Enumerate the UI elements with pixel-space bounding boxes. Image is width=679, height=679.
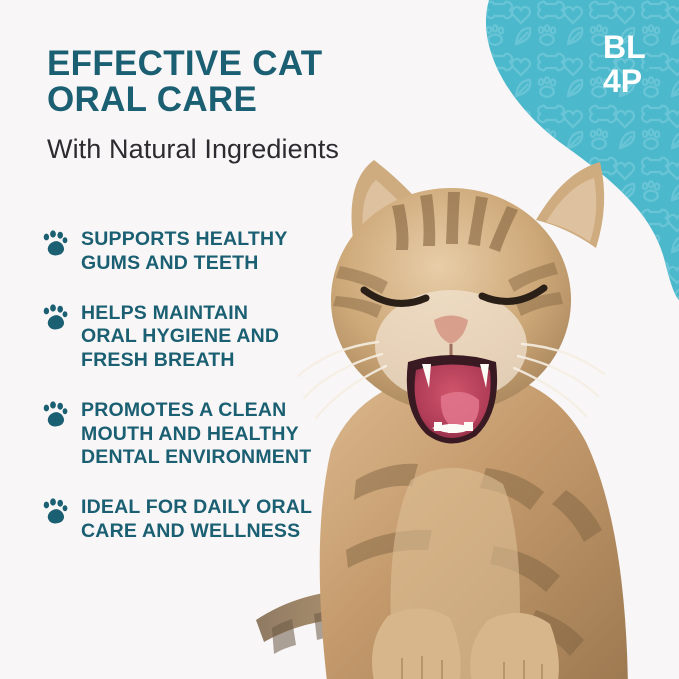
bullet-line: ORAL HYGIENE AND bbox=[81, 325, 279, 347]
cat-eyes bbox=[364, 288, 544, 303]
cat-mouth bbox=[407, 355, 497, 444]
paw-print-icon bbox=[42, 401, 68, 427]
bullet-line: SUPPORTS HEALTHY bbox=[81, 228, 288, 250]
cat-ears bbox=[352, 160, 605, 248]
logo-text-4p: 4P bbox=[603, 63, 642, 99]
bullet-line: DENTAL ENVIRONMENT bbox=[81, 446, 311, 468]
bullet-line: PROMOTES A CLEAN bbox=[81, 399, 286, 421]
list-item: IDEAL FOR DAILY ORAL CARE AND WELLNESS bbox=[42, 496, 382, 544]
bullet-line: HELPS MAINTAIN bbox=[81, 302, 248, 324]
cat-nose bbox=[434, 316, 468, 345]
list-item: SUPPORTS HEALTHY GUMS AND TEETH bbox=[42, 228, 382, 276]
bullet-line: GUMS AND TEETH bbox=[81, 252, 259, 274]
headline-line-1: EFFECTIVE CAT bbox=[47, 44, 322, 83]
page-title: EFFECTIVE CAT ORAL CARE bbox=[47, 46, 387, 117]
benefits-list: SUPPORTS HEALTHY GUMS AND TEETH HELPS MA bbox=[42, 228, 382, 544]
subheadline: With Natural Ingredients bbox=[47, 134, 339, 165]
promo-banner: BL 4P bbox=[0, 0, 679, 679]
list-item-label: SUPPORTS HEALTHY GUMS AND TEETH bbox=[81, 228, 288, 276]
cat-paw-left bbox=[372, 608, 461, 679]
list-item: PROMOTES A CLEAN MOUTH AND HEALTHY DENTA… bbox=[42, 399, 382, 470]
paw-print-icon bbox=[42, 230, 68, 256]
cat-paw-right bbox=[470, 613, 559, 679]
cat-tail bbox=[256, 589, 516, 654]
bullet-line: CARE AND WELLNESS bbox=[81, 520, 300, 542]
logo-text-bl: BL bbox=[603, 29, 646, 65]
cat-teeth bbox=[422, 364, 489, 433]
paw-print-icon bbox=[42, 498, 68, 524]
bullet-line: MOUTH AND HEALTHY bbox=[81, 423, 299, 445]
list-item-label: IDEAL FOR DAILY ORAL CARE AND WELLNESS bbox=[81, 496, 312, 544]
headline-line-2: ORAL CARE bbox=[47, 82, 387, 118]
list-item: HELPS MAINTAIN ORAL HYGIENE AND FRESH BR… bbox=[42, 302, 382, 373]
list-item-label: PROMOTES A CLEAN MOUTH AND HEALTHY DENTA… bbox=[81, 399, 311, 470]
bullet-line: FRESH BREATH bbox=[81, 349, 235, 371]
paw-print-icon bbox=[42, 304, 68, 330]
list-item-label: HELPS MAINTAIN ORAL HYGIENE AND FRESH BR… bbox=[81, 302, 279, 373]
brand-logo: BL 4P bbox=[601, 26, 663, 102]
bullet-line: IDEAL FOR DAILY ORAL bbox=[81, 496, 312, 518]
